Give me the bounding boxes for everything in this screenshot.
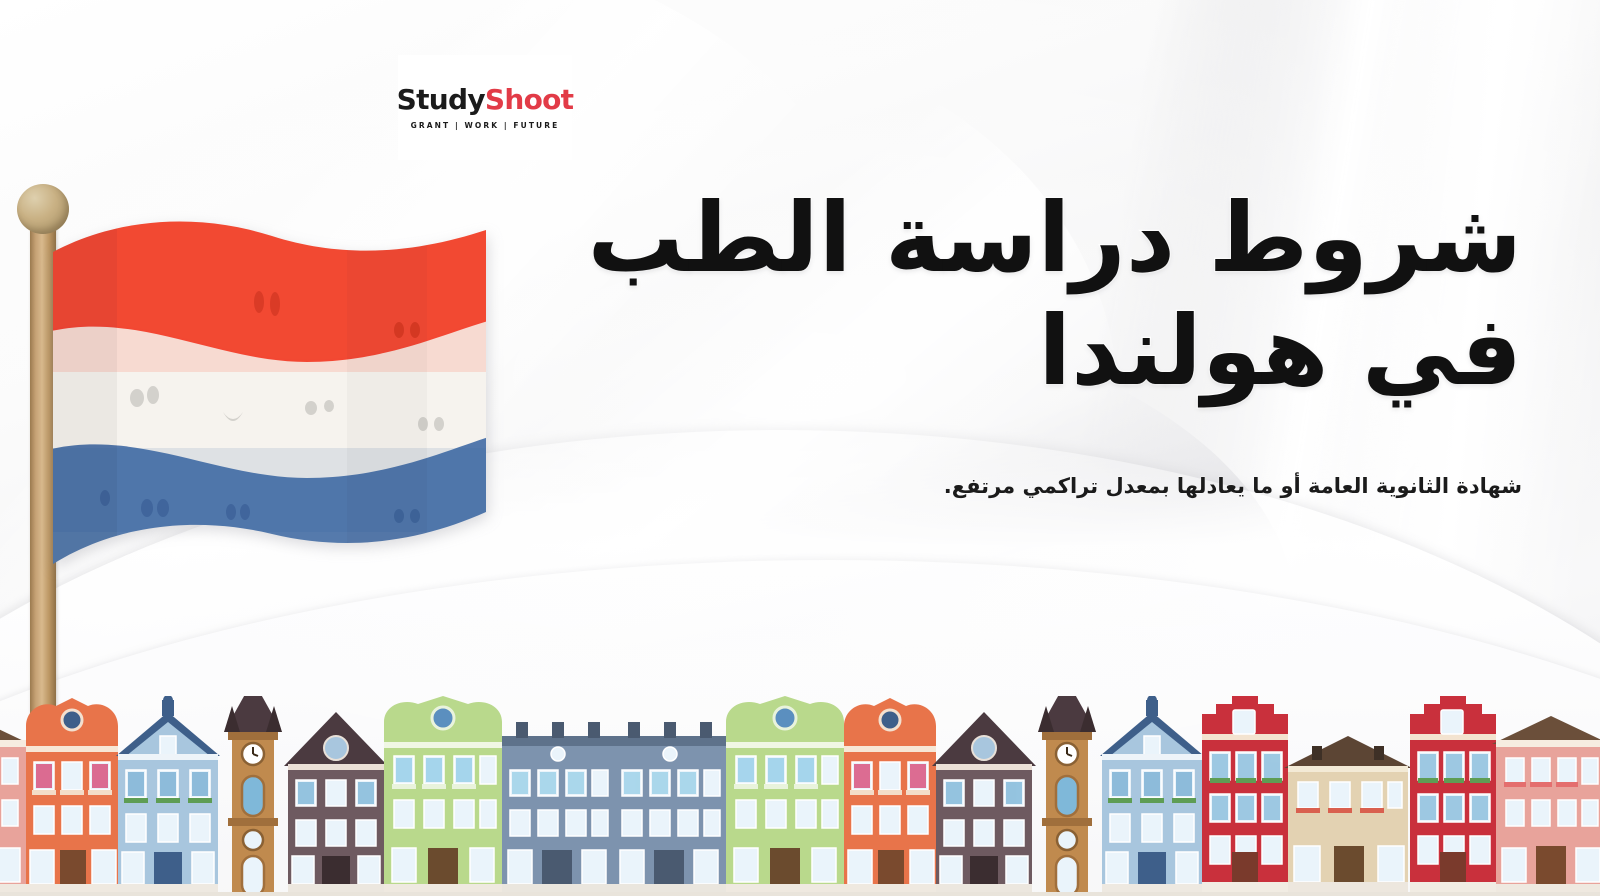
- netherlands-flag-icon: [47, 212, 492, 602]
- page-title-line-2: في هولندا: [502, 295, 1522, 408]
- logo-word-study: Study: [397, 83, 485, 116]
- dutch-canal-houses-skyline: [0, 696, 1600, 896]
- page-subtitle: شهادة الثانوية العامة أو ما يعادلها بمعد…: [502, 472, 1522, 501]
- logo-wordmark: StudyShoot: [397, 86, 574, 114]
- logo-word-shoot: Shoot: [485, 83, 573, 116]
- page-title-line-1: شروط دراسة الطب: [502, 182, 1522, 295]
- studyshoot-logo[interactable]: StudyShoot GRANT | WORK | FUTURE: [398, 55, 572, 160]
- banner-root: StudyShoot GRANT | WORK | FUTURE شروط در…: [0, 0, 1600, 896]
- page-title: شروط دراسة الطب في هولندا: [502, 182, 1522, 409]
- logo-tagline: GRANT | WORK | FUTURE: [411, 121, 560, 130]
